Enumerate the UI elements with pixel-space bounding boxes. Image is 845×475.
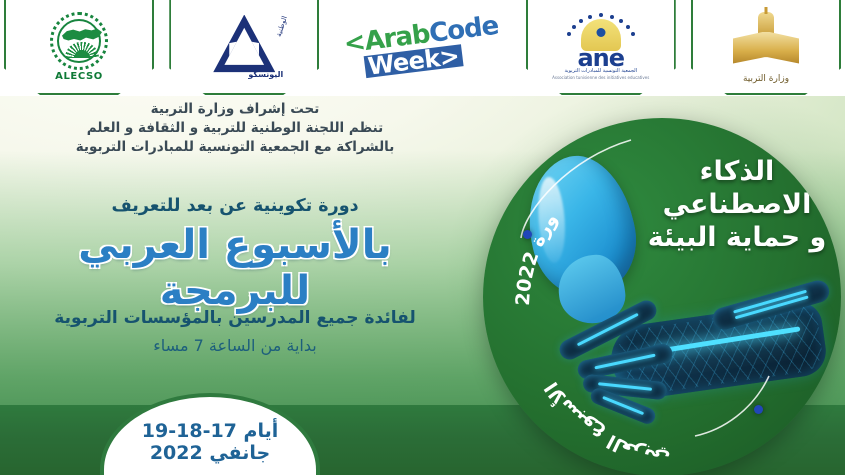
atie-label-arabic: الجمعية التونسية للمبادرات التربوية xyxy=(564,68,637,74)
unesco-top-label: الوطنية xyxy=(275,15,289,38)
theme-circle-badge: الذكاء الاصطناعي و حماية البيئة الأسبوع … xyxy=(483,118,841,475)
triangle-book-icon xyxy=(213,15,275,75)
ministry-of-education-logo: وزارة التربية xyxy=(691,0,841,95)
curved-caption-left-path: للبرمجة - الدورة 2022 xyxy=(483,118,562,306)
unesco-label: اليونسكو xyxy=(248,70,283,79)
logo-strip: ALECSO الوطنية اليونسكو <ArabCode Week> xyxy=(0,0,845,96)
atie-label-french: Association tunisienne des initiatives e… xyxy=(552,75,649,80)
curved-caption-right-path: الأسبوع العربي xyxy=(541,378,672,471)
curved-caption-right-text: الأسبوع العربي xyxy=(541,378,672,471)
alecso-label: ALECSO xyxy=(55,71,103,82)
organizer-line-3: بالشراكة مع الجمعية التونسية للمبادرات ا… xyxy=(0,138,470,157)
headline-subtitle: دورة تكوينية عن بعد للتعريف xyxy=(0,196,470,216)
page-title: بالأسبوع العربي للبرمجة xyxy=(0,222,470,314)
organizer-line-1: تحت إشراف وزارة التربية xyxy=(0,100,470,119)
audience-line: لفائدة جميع المدرسين بالمؤسسات التربوية xyxy=(0,308,470,328)
organizer-line-2: تنظم اللجنة الوطنية للتربية و الثقافة و … xyxy=(0,119,470,138)
alecso-emblem-icon xyxy=(50,12,108,70)
unesco-arabic-logo: الوطنية اليونسكو xyxy=(169,0,319,95)
date-days: أيام 17-18-19 xyxy=(142,420,278,442)
curved-caption-left-text: للبرمجة - الدورة 2022 xyxy=(483,118,562,306)
atie-logo: ane الجمعية التونسية للمبادرات التربوية … xyxy=(526,0,676,95)
sun-rays-icon xyxy=(65,42,99,58)
organizer-lines: تحت إشراف وزارة التربية تنظم اللجنة الوط… xyxy=(0,100,470,157)
poster-canvas: ALECSO الوطنية اليونسكو <ArabCode Week> xyxy=(0,0,845,475)
alecso-logo: ALECSO xyxy=(4,0,154,95)
ministry-label: وزارة التربية xyxy=(743,74,789,84)
curved-caption: الأسبوع العربي للبرمجة - الدورة 2022 xyxy=(483,118,841,475)
date-month-year: جانفي 2022 xyxy=(150,442,270,464)
open-book-icon xyxy=(733,32,799,64)
arabcode-week-wordmark: <ArabCode Week> xyxy=(335,0,511,95)
time-line: بداية من الساعة 7 مساء xyxy=(0,336,470,355)
